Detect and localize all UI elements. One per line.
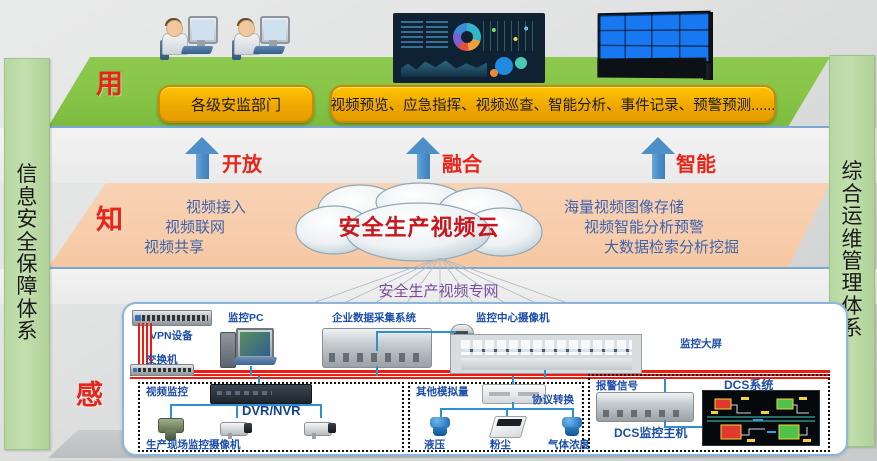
device-label-center-camera: 监控中心摄像机 bbox=[476, 310, 550, 325]
arrow-intelligent bbox=[641, 137, 675, 179]
desktop-pc-icon bbox=[220, 326, 280, 368]
video-wall-screens bbox=[598, 11, 711, 64]
dvr-bus bbox=[170, 404, 320, 406]
device-label-switch: 交换机 bbox=[146, 352, 178, 367]
dashboard-bubble-3 bbox=[490, 69, 498, 77]
keyboard-shape bbox=[253, 46, 286, 54]
phase-label-sense: 感 bbox=[76, 373, 103, 412]
dcs-uplink bbox=[664, 378, 666, 392]
person-head bbox=[166, 20, 183, 37]
cloud-left-item-1: 视频联网 bbox=[165, 216, 225, 237]
pc-wire bbox=[250, 366, 252, 376]
group3-title: 报警信号 bbox=[596, 378, 638, 393]
monitor-wall-icon bbox=[450, 334, 642, 374]
arrow-label-intelligent: 智能 bbox=[676, 148, 716, 177]
arrow-open bbox=[185, 137, 219, 179]
dashboard-table-2 bbox=[426, 21, 448, 51]
vpn-riser-1 bbox=[138, 323, 140, 370]
side-left-char-3: 全 bbox=[17, 232, 38, 254]
dashboard-donut-chart bbox=[453, 23, 481, 51]
dashboard-bubble-2 bbox=[515, 57, 527, 69]
cloud-left-item-0: 视频接入 bbox=[186, 196, 246, 217]
side-right-char-2: 运 bbox=[842, 206, 863, 228]
cloud-right-item-2: 大数据检索分析挖掘 bbox=[604, 236, 739, 257]
arrow-converge bbox=[406, 137, 440, 179]
dashboard-scatter-panel bbox=[483, 21, 537, 51]
server-wire bbox=[376, 366, 378, 376]
proto-down bbox=[512, 402, 514, 410]
arrow-label-open: 开放 bbox=[222, 148, 262, 177]
side-right-char-0: 综 bbox=[842, 161, 863, 183]
cloud-title: 安全生产视频云 bbox=[288, 210, 550, 242]
operator-workstation-icon-2 bbox=[232, 16, 288, 62]
side-left-char-1: 息 bbox=[17, 187, 38, 209]
dashboard-area-chart bbox=[401, 55, 487, 77]
dashboard-table-1 bbox=[401, 21, 423, 51]
wall-wire bbox=[544, 370, 546, 378]
side-left-char-0: 信 bbox=[17, 164, 38, 186]
keyboard-shape bbox=[181, 46, 214, 54]
group2-sensor-1: 粉尘 bbox=[490, 437, 511, 452]
analytics-dashboard-screen bbox=[393, 13, 545, 83]
dvr-drop-3 bbox=[320, 404, 322, 418]
device-label-monitor-pc: 监控PC bbox=[228, 310, 264, 325]
device-label-data-collection: 企业数据采集系统 bbox=[332, 310, 416, 325]
group2-device-label: 协议转换 bbox=[532, 392, 574, 407]
phase-label-know: 知 bbox=[96, 198, 123, 237]
camera-wire-v bbox=[376, 331, 378, 351]
functions-box[interactable]: 视频预览、应急指挥、视频巡查、智能分析、事件记录、预警预测...... bbox=[330, 85, 776, 123]
pressure-sensor-icon bbox=[427, 416, 453, 436]
arrow-label-converge: 融合 bbox=[442, 148, 482, 177]
side-right-char-1: 合 bbox=[842, 184, 863, 206]
side-left-char-2: 安 bbox=[17, 209, 38, 231]
group1-title: 视频监控 bbox=[146, 384, 188, 399]
side-right-char-3: 维 bbox=[842, 229, 863, 251]
person-head bbox=[238, 20, 255, 37]
side-right-char-4: 管 bbox=[842, 251, 863, 273]
cloud-left-item-2: 视频共享 bbox=[144, 236, 204, 257]
operator-workstation-icon bbox=[160, 16, 216, 62]
group2-title: 其他模拟量 bbox=[416, 384, 469, 399]
vpn-riser-2 bbox=[142, 323, 144, 370]
side-left-char-7: 系 bbox=[17, 321, 38, 343]
video-wall-display bbox=[593, 12, 719, 80]
proto-uplink bbox=[512, 376, 514, 384]
dvr-drop-2 bbox=[236, 404, 238, 418]
group2-sensor-0: 液压 bbox=[424, 437, 445, 452]
side-left-char-4: 保 bbox=[17, 254, 38, 276]
side-left-char-6: 体 bbox=[17, 299, 38, 321]
dcs-scada-screen-icon bbox=[702, 390, 820, 446]
dvr-uplink bbox=[258, 376, 260, 384]
rack-server-icon bbox=[596, 392, 694, 422]
group1-caption: 生产现场监控摄像机 bbox=[146, 437, 241, 452]
camera-wire-h bbox=[376, 331, 456, 333]
dvr-nvr-icon bbox=[210, 384, 312, 404]
cloud-right-item-1: 视频智能分析预警 bbox=[584, 216, 704, 237]
device-label-vpn: VPN设备 bbox=[150, 328, 193, 343]
perception-layer-panel: VPN设备 交换机 监控PC 企业数据采集系统 监控中心摄像机 监控大屏 bbox=[122, 302, 848, 456]
gas-sensor-icon bbox=[559, 416, 585, 436]
device-label-big-screen: 监控大屏 bbox=[680, 336, 722, 351]
vpn-device-icon bbox=[132, 310, 212, 326]
department-box[interactable]: 各级安监部门 bbox=[158, 85, 314, 123]
architecture-diagram: 信 息 安 全 保 障 体 系 综 合 运 维 管 理 体 系 用 知 感 bbox=[0, 0, 877, 461]
network-label: 安全生产视频专网 bbox=[0, 280, 877, 301]
cloud-right-item-0: 海量视频图像存储 bbox=[564, 196, 684, 217]
phase-label-use: 用 bbox=[96, 62, 123, 101]
dust-sensor-icon bbox=[489, 416, 527, 438]
group2-sensor-2: 气体浓度 bbox=[548, 437, 590, 452]
video-wall-base bbox=[597, 57, 706, 78]
left-side-panel-information-security: 信 息 安 全 保 障 体 系 bbox=[4, 58, 50, 450]
